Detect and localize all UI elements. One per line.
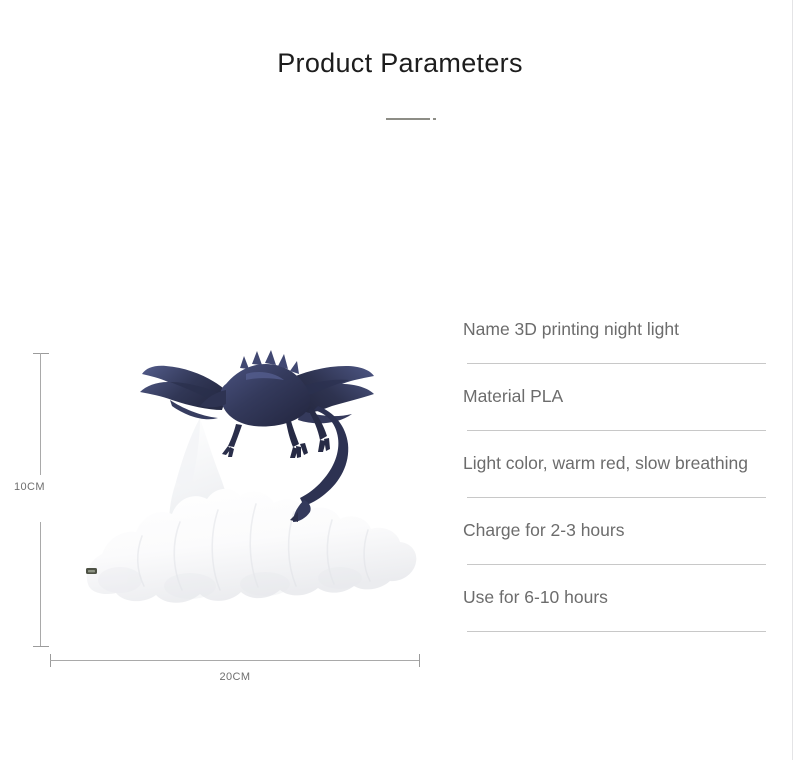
height-dimension-label: 10CM: [14, 481, 45, 493]
usb-charging-port: [86, 568, 97, 574]
title-decorative-rule: [0, 112, 800, 126]
spec-row-use-time: Use for 6-10 hours: [463, 586, 793, 653]
title-rule-bar: [386, 118, 430, 120]
height-dim-shaft-bottom: [40, 522, 41, 646]
spec-text-charge-time: Charge for 2-3 hours: [463, 519, 624, 541]
page-title: Product Parameters: [0, 48, 800, 79]
spec-row-light-color: Light color, warm red, slow breathing: [463, 452, 793, 519]
height-dim-cap-bottom: [33, 646, 49, 647]
spec-text-name: Name 3D printing night light: [463, 318, 679, 340]
spec-row-material: Material PLA: [463, 385, 793, 452]
width-dimension-label: 20CM: [50, 671, 420, 683]
spec-divider-light-color: [467, 497, 766, 498]
spec-row-name: Name 3D printing night light: [463, 318, 793, 385]
spec-divider-name: [467, 363, 766, 364]
height-dim-shaft-top: [40, 353, 41, 475]
spec-list: Name 3D printing night light Material PL…: [463, 318, 793, 653]
product-image: [40, 330, 440, 690]
cloud-base: [86, 418, 416, 603]
spec-text-material: Material PLA: [463, 385, 563, 407]
spec-divider-material: [467, 430, 766, 431]
spec-text-light-color: Light color, warm red, slow breathing: [463, 452, 748, 474]
product-illustration: [50, 340, 440, 660]
spec-divider-use-time: [467, 631, 766, 632]
spec-text-use-time: Use for 6-10 hours: [463, 586, 608, 608]
spec-row-charge-time: Charge for 2-3 hours: [463, 519, 793, 586]
product-parameters-page: Product Parameters: [0, 0, 800, 760]
height-dimension-line: [40, 350, 42, 650]
title-rule-dot: [433, 118, 436, 120]
width-dim-cap-right: [419, 654, 420, 667]
spec-divider-charge-time: [467, 564, 766, 565]
height-dim-cap-top: [33, 353, 49, 354]
width-dim-shaft: [50, 660, 420, 661]
width-dimension-line: [50, 654, 420, 668]
